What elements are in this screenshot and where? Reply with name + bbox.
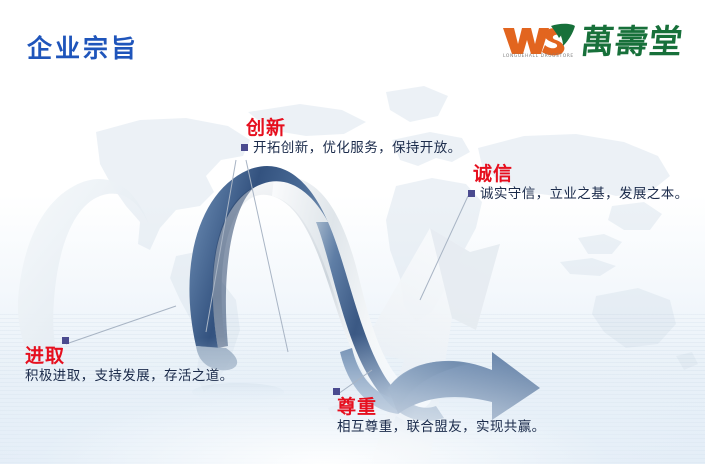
company-logo: LONGUEHALL DRUGSTORE 萬壽堂 bbox=[501, 22, 683, 68]
callout-leader-lines bbox=[0, 0, 705, 464]
callout-keyword: 创新 bbox=[246, 117, 462, 139]
callout-innovation: 创新 开拓创新，优化服务，保持开放。 bbox=[241, 117, 462, 157]
bullet-square-icon bbox=[62, 337, 69, 344]
slide-canvas: 企业宗旨 LONGUEHALL DRUGSTORE 萬壽堂 创新 开拓创新，优化… bbox=[0, 0, 705, 464]
callout-description-row: 诚实守信，立业之基，发展之本。 bbox=[468, 185, 689, 203]
world-map-background bbox=[0, 0, 705, 464]
callout-progress: 进取 积极进取，支持发展，存活之道。 bbox=[25, 345, 234, 385]
logo-tagline: LONGUEHALL DRUGSTORE bbox=[503, 54, 574, 59]
callout-description-row: 开拓创新，优化服务，保持开放。 bbox=[241, 139, 462, 157]
page-title: 企业宗旨 bbox=[27, 29, 139, 65]
ribbon-arrow-illustration bbox=[0, 0, 705, 464]
bullet-square-icon bbox=[241, 144, 248, 151]
bullet-square-icon bbox=[468, 190, 475, 197]
callout-respect: 尊重 相互尊重，联合盟友，实现共赢。 bbox=[337, 396, 546, 436]
callout-description: 诚实守信，立业之基，发展之本。 bbox=[480, 186, 689, 202]
callout-description: 相互尊重，联合盟友，实现共赢。 bbox=[337, 418, 546, 436]
bullet-square-icon bbox=[333, 388, 340, 395]
callout-integrity: 诚信 诚实守信，立业之基，发展之本。 bbox=[468, 163, 689, 203]
callout-description: 积极进取，支持发展，存活之道。 bbox=[25, 367, 234, 385]
callout-keyword: 尊重 bbox=[337, 396, 546, 418]
callout-keyword: 进取 bbox=[25, 345, 234, 367]
logo-mark-wst: LONGUEHALL DRUGSTORE bbox=[501, 22, 575, 64]
callout-description: 开拓创新，优化服务，保持开放。 bbox=[253, 140, 462, 156]
logo-brand-name: 萬壽堂 bbox=[579, 22, 685, 62]
callout-keyword: 诚信 bbox=[473, 163, 689, 185]
floor-grid-lines bbox=[0, 314, 705, 464]
